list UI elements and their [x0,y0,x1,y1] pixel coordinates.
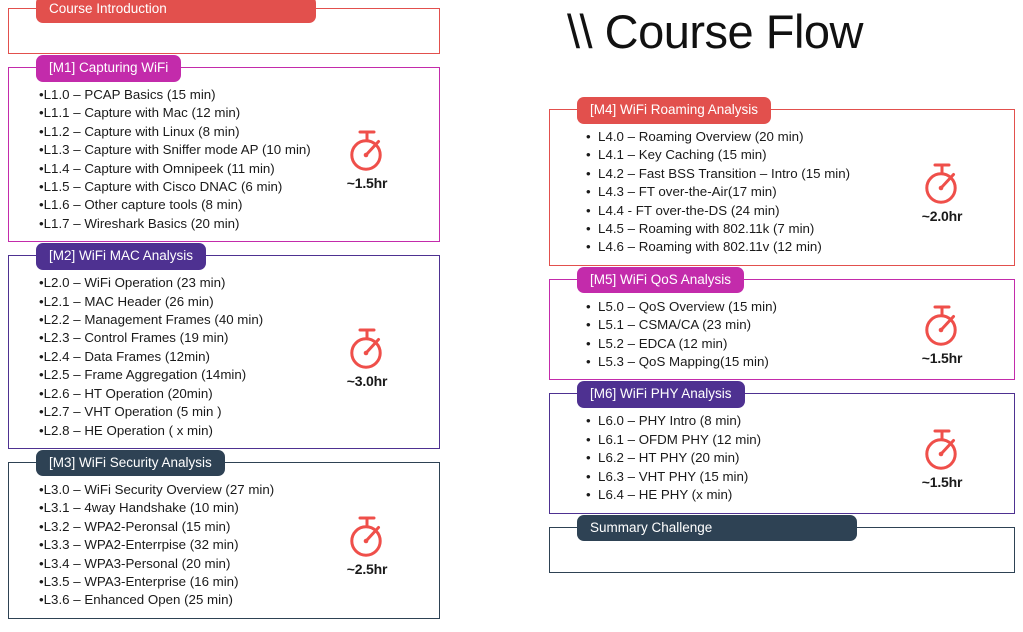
lesson-item[interactable]: L2.2 – Management Frames (40 min) [39,311,317,329]
lesson-item[interactable]: L4.4 - FT over-the-DS (24 min) [586,202,892,220]
lesson-label: L4.4 - FT over-the-DS (24 min) [598,203,780,218]
lesson-item[interactable]: L4.6 – Roaming with 802.11v (12 min) [586,238,892,256]
lesson-item[interactable]: L6.3 – VHT PHY (15 min) [586,468,892,486]
bullet-icon [586,129,598,144]
lesson-label: L4.1 – Key Caching (15 min) [598,147,767,162]
lesson-list-m2: L2.0 – WiFi Operation (23 min)L2.1 – MAC… [19,274,317,440]
lesson-item[interactable]: L2.0 – WiFi Operation (23 min) [39,274,317,292]
lesson-item[interactable]: L2.5 – Frame Aggregation (14min) [39,366,317,384]
module-m5[interactable]: [M5] WiFi QoS AnalysisL5.0 – QoS Overvie… [549,279,1015,381]
lesson-item[interactable]: L5.3 – QoS Mapping(15 min) [586,353,892,371]
lesson-label: L4.3 – FT over-the-Air(17 min) [598,184,777,199]
stopwatch-icon [920,303,964,349]
stopwatch-icon [920,427,964,473]
lesson-list-m6: L6.0 – PHY Intro (8 min)L6.1 – OFDM PHY … [560,412,892,504]
lesson-item[interactable]: L6.2 – HT PHY (20 min) [586,449,892,467]
module-body-m4: L4.0 – Roaming Overview (20 min)L4.1 – K… [560,128,1004,257]
lesson-label: L2.0 – WiFi Operation (23 min) [44,275,226,290]
lesson-label: L2.7 – VHT Operation (5 min ) [44,404,222,419]
bullet-icon [586,299,598,314]
module-body-m2: L2.0 – WiFi Operation (23 min)L2.1 – MAC… [19,274,429,440]
lesson-label: L6.0 – PHY Intro (8 min) [598,413,741,428]
module-header-m3[interactable]: [M3] WiFi Security Analysis [36,450,225,477]
lesson-item[interactable]: L1.0 – PCAP Basics (15 min) [39,86,317,104]
stopwatch-icon [345,514,389,560]
lesson-item[interactable]: L5.2 – EDCA (12 min) [586,335,892,353]
stopwatch-icon [920,161,964,207]
duration-badge-m2: ~3.0hr [323,326,411,389]
module-header-summary-challenge[interactable]: Summary Challenge [577,515,857,542]
lesson-item[interactable]: L1.3 – Capture with Sniffer mode AP (10 … [39,141,317,159]
lesson-label: L1.3 – Capture with Sniffer mode AP (10 … [44,142,311,157]
lesson-label: L5.2 – EDCA (12 min) [598,336,727,351]
lesson-item[interactable]: L1.1 – Capture with Mac (12 min) [39,104,317,122]
lesson-label: L5.3 – QoS Mapping(15 min) [598,354,769,369]
duration-badge-m4: ~2.0hr [898,161,986,224]
module-header-m1[interactable]: [M1] Capturing WiFi [36,55,181,82]
lesson-label: L1.2 – Capture with Linux (8 min) [44,124,240,139]
lesson-label: L5.0 – QoS Overview (15 min) [598,299,777,314]
lesson-item[interactable]: L1.4 – Capture with Omnipeek (11 min) [39,160,317,178]
lesson-label: L4.6 – Roaming with 802.11v (12 min) [598,239,822,254]
module-m4[interactable]: [M4] WiFi Roaming AnalysisL4.0 – Roaming… [549,109,1015,266]
lesson-item[interactable]: L2.7 – VHT Operation (5 min ) [39,403,317,421]
lesson-item[interactable]: L4.1 – Key Caching (15 min) [586,146,892,164]
lesson-label: L2.1 – MAC Header (26 min) [44,294,214,309]
lesson-label: L3.5 – WPA3-Enterprise (16 min) [44,574,239,589]
lesson-label: L2.6 – HT Operation (20min) [44,386,213,401]
lesson-item[interactable]: L6.0 – PHY Intro (8 min) [586,412,892,430]
lesson-label: L3.6 – Enhanced Open (25 min) [44,592,233,607]
duration-badge-m5: ~1.5hr [898,303,986,366]
lesson-item[interactable]: L1.7 – Wireshark Basics (20 min) [39,215,317,233]
bullet-icon [586,450,598,465]
bullet-icon [586,184,598,199]
bullet-icon [586,413,598,428]
lesson-item[interactable]: L6.1 – OFDM PHY (12 min) [586,431,892,449]
duration-label: ~3.0hr [347,373,387,389]
lesson-label: L2.4 – Data Frames (12min) [44,349,210,364]
lesson-label: L3.2 – WPA2-Peronsal (15 min) [44,519,231,534]
lesson-label: L6.4 – HE PHY (x min) [598,487,732,502]
page-title: \\ Course Flow [567,8,1015,55]
lesson-list-m3: L3.0 – WiFi Security Overview (27 min)L3… [19,481,317,610]
lesson-label: L4.2 – Fast BSS Transition – Intro (15 m… [598,166,850,181]
duration-badge-m6: ~1.5hr [898,427,986,490]
bullet-icon [586,317,598,332]
bullet-icon [586,147,598,162]
duration-label: ~1.5hr [922,350,962,366]
lesson-label: L6.2 – HT PHY (20 min) [598,450,739,465]
module-header-course-introduction[interactable]: Course Introduction [36,0,316,23]
lesson-label: L6.3 – VHT PHY (15 min) [598,469,748,484]
lesson-label: L3.3 – WPA2-Enterrpise (32 min) [44,537,239,552]
lesson-item[interactable]: L4.2 – Fast BSS Transition – Intro (15 m… [586,165,892,183]
bullet-icon [586,469,598,484]
lesson-label: L1.0 – PCAP Basics (15 min) [44,87,216,102]
stopwatch-icon [345,326,389,372]
module-header-m6[interactable]: [M6] WiFi PHY Analysis [577,381,745,408]
right-modules-container: [M4] WiFi Roaming AnalysisL4.0 – Roaming… [549,109,1015,573]
lesson-item[interactable]: L5.0 – QoS Overview (15 min) [586,298,892,316]
lesson-label: L5.1 – CSMA/CA (23 min) [598,317,751,332]
lesson-item[interactable]: L1.5 – Capture with Cisco DNAC (6 min) [39,178,317,196]
lesson-item[interactable]: L4.5 – Roaming with 802.11k (7 min) [586,220,892,238]
lesson-label: L2.2 – Management Frames (40 min) [44,312,264,327]
lesson-item[interactable]: L5.1 – CSMA/CA (23 min) [586,316,892,334]
duration-label: ~2.5hr [347,561,387,577]
bullet-icon [586,166,598,181]
module-m1[interactable]: [M1] Capturing WiFiL1.0 – PCAP Basics (1… [8,67,440,242]
lesson-label: L2.3 – Control Frames (19 min) [44,330,229,345]
module-summary-challenge[interactable]: Summary Challenge [549,527,1015,573]
lesson-item[interactable]: L4.0 – Roaming Overview (20 min) [586,128,892,146]
bullet-icon [586,203,598,218]
duration-badge-m1: ~1.5hr [323,128,411,191]
lesson-list-m1: L1.0 – PCAP Basics (15 min)L1.1 – Captur… [19,86,317,233]
bullet-icon [586,432,598,447]
stopwatch-icon [345,128,389,174]
module-m6[interactable]: [M6] WiFi PHY AnalysisL6.0 – PHY Intro (… [549,393,1015,513]
module-course-introduction[interactable]: Course Introduction [8,8,440,54]
module-body-m3: L3.0 – WiFi Security Overview (27 min)L3… [19,481,429,610]
lesson-item[interactable]: L3.5 – WPA3-Enterprise (16 min) [39,573,317,591]
lesson-label: L4.5 – Roaming with 802.11k (7 min) [598,221,814,236]
right-module-column: \\ Course Flow [M4] WiFi Roaming Analysi… [549,8,1015,586]
duration-badge-m3: ~2.5hr [323,514,411,577]
lesson-item[interactable]: L3.1 – 4way Handshake (10 min) [39,499,317,517]
module-m3[interactable]: [M3] WiFi Security AnalysisL3.0 – WiFi S… [8,462,440,619]
bullet-icon [586,221,598,236]
lesson-label: L3.0 – WiFi Security Overview (27 min) [44,482,275,497]
lesson-list-m4: L4.0 – Roaming Overview (20 min)L4.1 – K… [560,128,892,257]
lesson-item[interactable]: L1.6 – Other capture tools (8 min) [39,196,317,214]
bullet-icon [586,354,598,369]
duration-label: ~1.5hr [922,474,962,490]
lesson-label: L1.7 – Wireshark Basics (20 min) [44,216,240,231]
lesson-item[interactable]: L3.4 – WPA3-Personal (20 min) [39,555,317,573]
module-body-m5: L5.0 – QoS Overview (15 min)L5.1 – CSMA/… [560,298,1004,372]
bullet-icon [586,336,598,351]
lesson-label: L3.1 – 4way Handshake (10 min) [44,500,239,515]
lesson-label: L1.5 – Capture with Cisco DNAC (6 min) [44,179,283,194]
lesson-item[interactable]: L4.3 – FT over-the-Air(17 min) [586,183,892,201]
lesson-item[interactable]: L3.3 – WPA2-Enterrpise (32 min) [39,536,317,554]
left-module-column: Course Introduction[M1] Capturing WiFiL1… [8,8,440,632]
lesson-label: L3.4 – WPA3-Personal (20 min) [44,556,231,571]
lesson-label: L6.1 – OFDM PHY (12 min) [598,432,761,447]
module-m2[interactable]: [M2] WiFi MAC AnalysisL2.0 – WiFi Operat… [8,255,440,449]
module-body-m6: L6.0 – PHY Intro (8 min)L6.1 – OFDM PHY … [560,412,1004,504]
module-header-m2[interactable]: [M2] WiFi MAC Analysis [36,243,206,270]
lesson-item[interactable]: L2.3 – Control Frames (19 min) [39,329,317,347]
lesson-item[interactable]: L2.4 – Data Frames (12min) [39,348,317,366]
lesson-item[interactable]: L6.4 – HE PHY (x min) [586,486,892,504]
module-header-m4[interactable]: [M4] WiFi Roaming Analysis [577,97,771,124]
lesson-item[interactable]: L3.6 – Enhanced Open (25 min) [39,591,317,609]
lesson-item[interactable]: L1.2 – Capture with Linux (8 min) [39,123,317,141]
lesson-item[interactable]: L2.6 – HT Operation (20min) [39,385,317,403]
module-header-m5[interactable]: [M5] WiFi QoS Analysis [577,267,744,294]
lesson-label: L1.6 – Other capture tools (8 min) [44,197,243,212]
lesson-label: L4.0 – Roaming Overview (20 min) [598,129,803,144]
lesson-label: L1.1 – Capture with Mac (12 min) [44,105,241,120]
lesson-item[interactable]: L2.8 – HE Operation ( x min) [39,422,317,440]
lesson-item[interactable]: L3.2 – WPA2-Peronsal (15 min) [39,518,317,536]
duration-label: ~2.0hr [922,208,962,224]
lesson-item[interactable]: L2.1 – MAC Header (26 min) [39,293,317,311]
lesson-list-m5: L5.0 – QoS Overview (15 min)L5.1 – CSMA/… [560,298,892,372]
module-body-m1: L1.0 – PCAP Basics (15 min)L1.1 – Captur… [19,86,429,233]
lesson-label: L2.8 – HE Operation ( x min) [44,423,213,438]
lesson-label: L2.5 – Frame Aggregation (14min) [44,367,247,382]
lesson-item[interactable]: L3.0 – WiFi Security Overview (27 min) [39,481,317,499]
bullet-icon [586,239,598,254]
lesson-label: L1.4 – Capture with Omnipeek (11 min) [44,161,275,176]
bullet-icon [586,487,598,502]
duration-label: ~1.5hr [347,175,387,191]
